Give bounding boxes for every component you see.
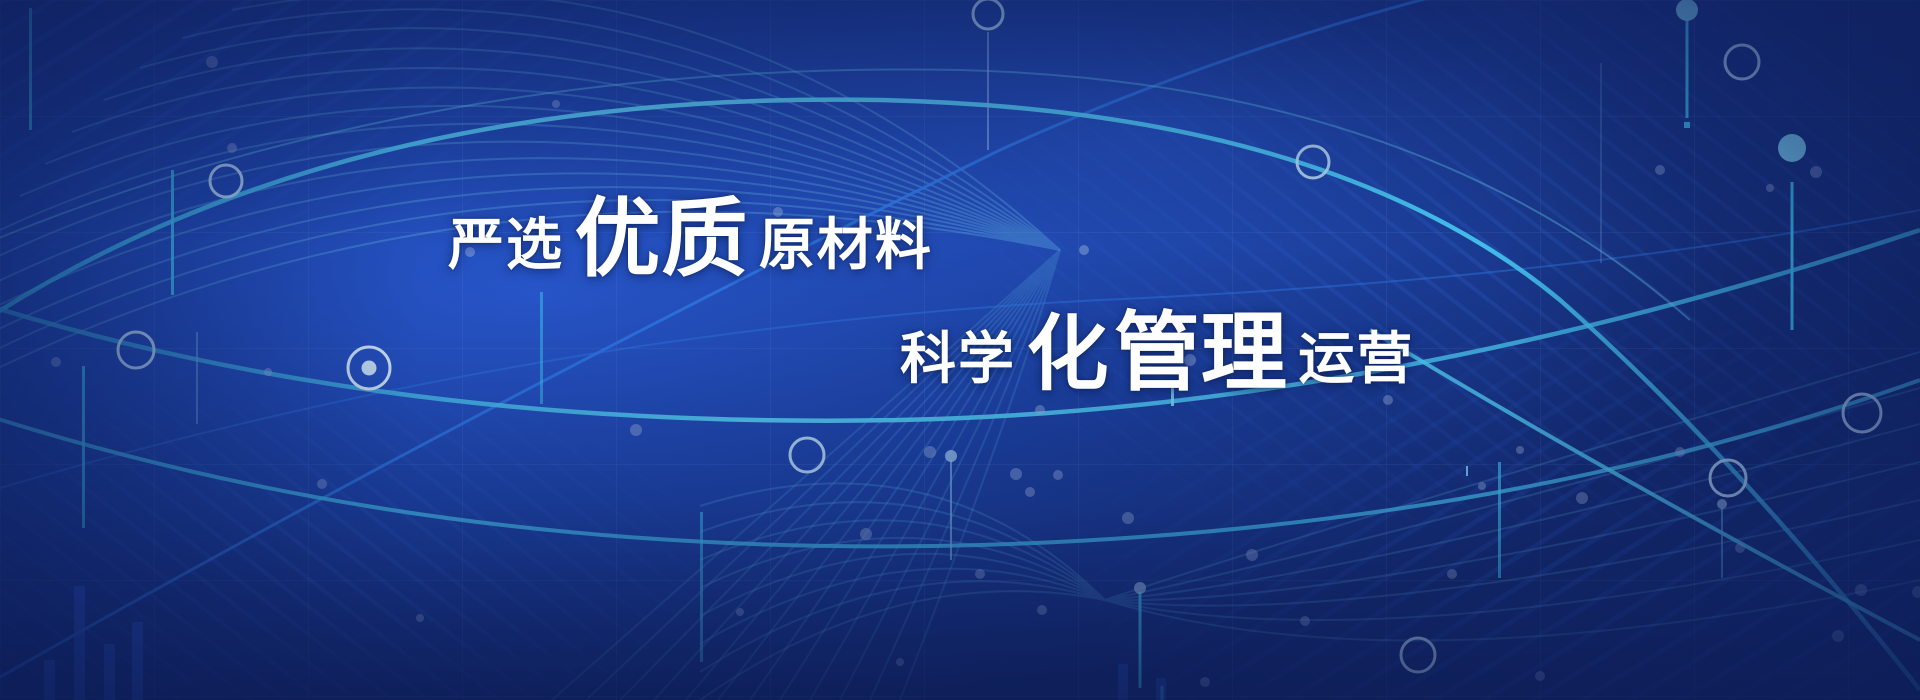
headline-seg-yanxuan: 严选 bbox=[448, 217, 564, 273]
headline-seg-hua: 化 bbox=[1026, 314, 1109, 396]
headline-seg-kexue: 科学 bbox=[900, 331, 1016, 387]
banner-root: 严选 优质 原材料 科学 化 管理 运营 bbox=[0, 0, 1920, 700]
headline-seg-youzhi: 优质 bbox=[574, 196, 748, 282]
headline-seg-yuancailiao: 原材料 bbox=[759, 217, 933, 273]
headline-seg-yunying: 运营 bbox=[1298, 331, 1414, 387]
headline-seg-guanli: 管理 bbox=[1114, 310, 1288, 396]
headline-line-2: 科学 化 管理 运营 bbox=[900, 310, 1414, 396]
headline-line-1: 严选 优质 原材料 bbox=[448, 196, 933, 282]
